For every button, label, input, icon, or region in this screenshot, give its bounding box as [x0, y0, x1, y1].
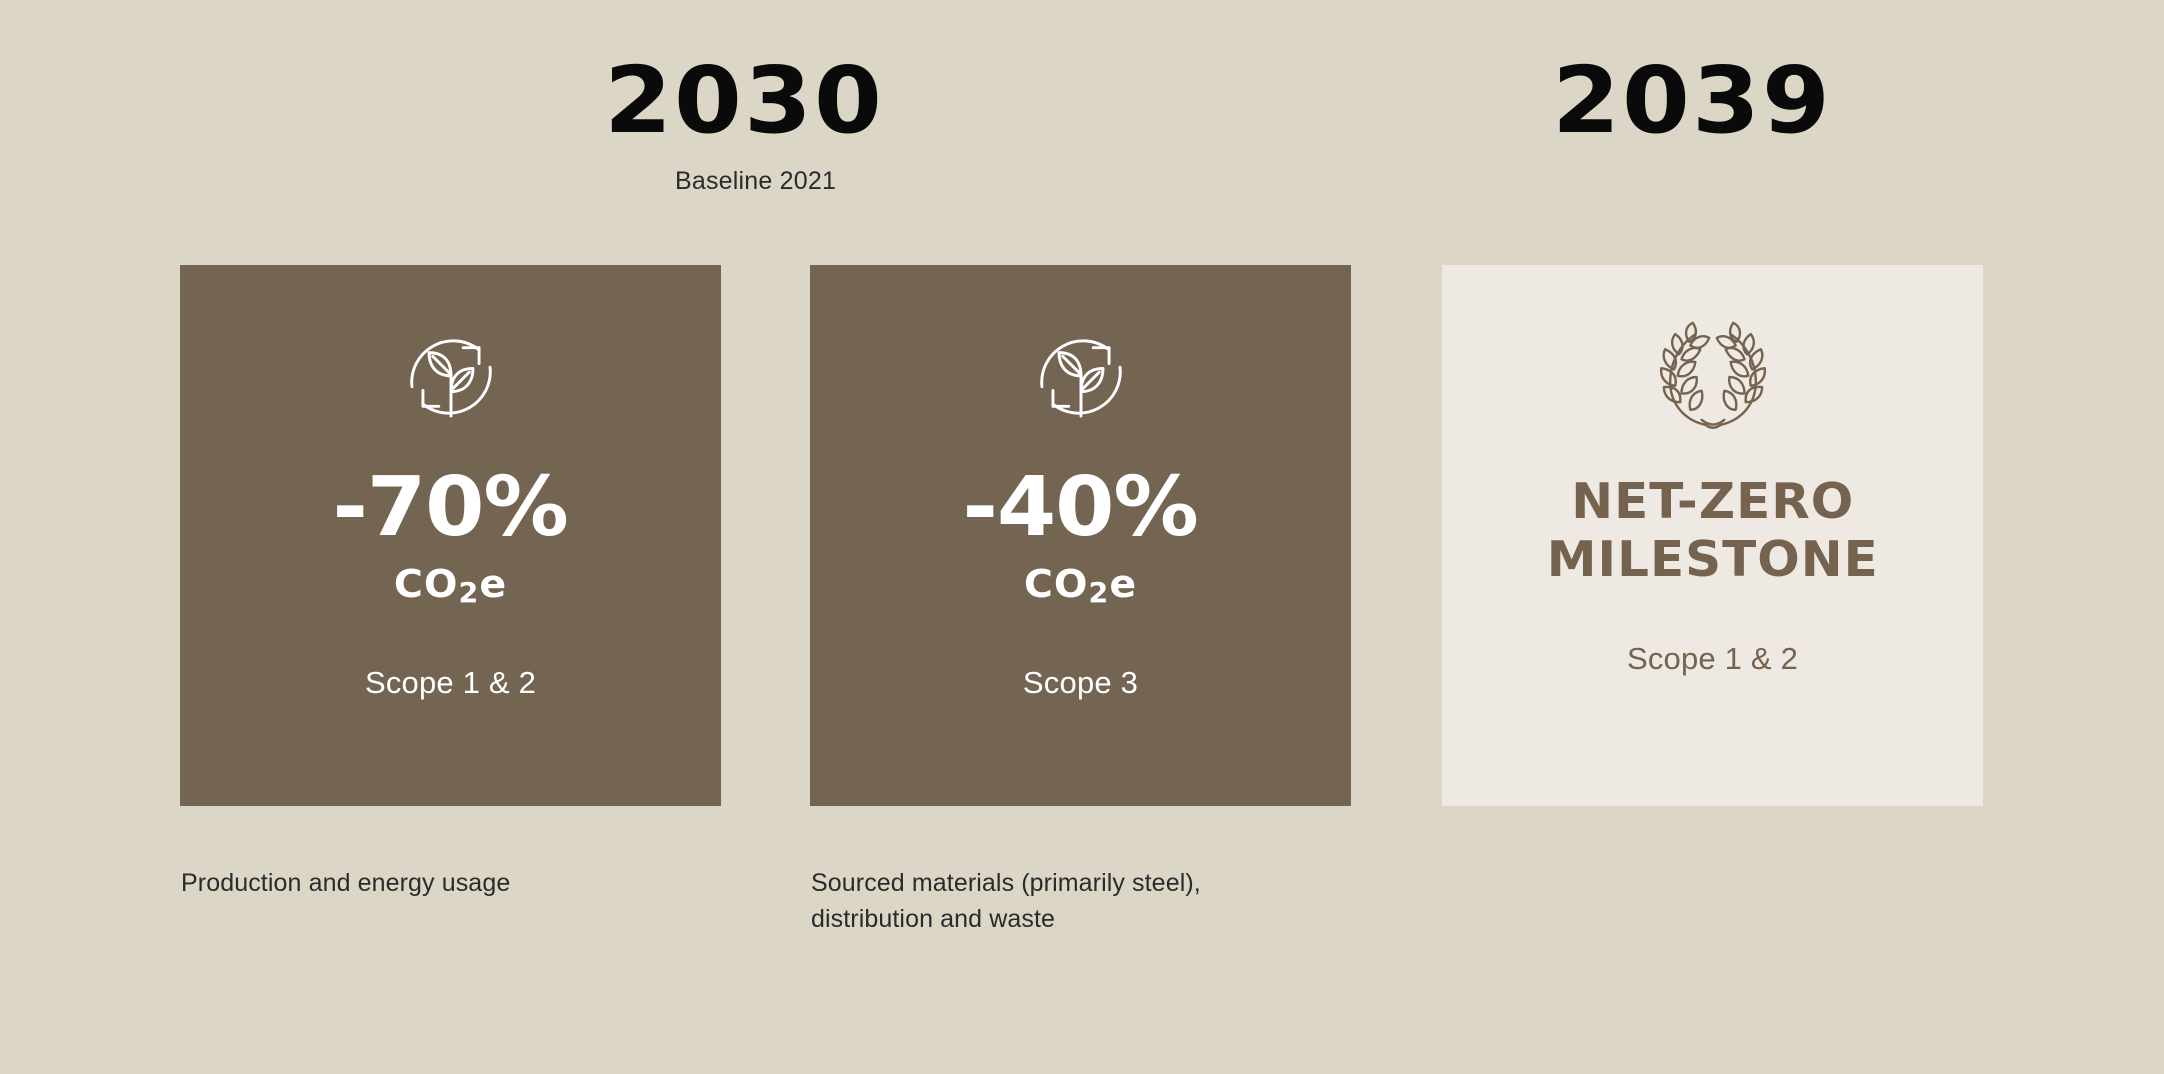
infographic-canvas: 2030 Baseline 2021 2039 -70% CO2e Scope …: [0, 0, 2164, 1074]
milestone-card-net-zero: NET-ZERO MILESTONE Scope 1 & 2: [1442, 265, 1983, 806]
co2e-unit-label: CO2e: [1024, 565, 1137, 607]
milestone-card-scope-1-2: -70% CO2e Scope 1 & 2: [180, 265, 721, 806]
recycle-plant-icon: [390, 313, 512, 441]
reduction-value: -70%: [333, 467, 568, 549]
scope-label: Scope 1 & 2: [365, 665, 536, 701]
laurel-wreath-icon: [1650, 313, 1776, 441]
co2e-unit-label: CO2e: [394, 565, 507, 607]
baseline-label: Baseline 2021: [675, 167, 836, 196]
year-heading-2039: 2039: [1552, 55, 1832, 147]
milestone-card-scope-3: -40% CO2e Scope 3: [810, 265, 1351, 806]
card-caption-scope-1-2: Production and energy usage: [181, 866, 741, 902]
scope-label: Scope 3: [1023, 665, 1138, 701]
reduction-value: -40%: [963, 467, 1198, 549]
scope-label: Scope 1 & 2: [1627, 641, 1798, 677]
recycle-plant-icon: [1020, 313, 1142, 441]
year-heading-2030: 2030: [604, 55, 884, 147]
card-caption-scope-3: Sourced materials (primarily steel), dis…: [811, 866, 1281, 937]
net-zero-headline: NET-ZERO MILESTONE: [1546, 473, 1878, 589]
